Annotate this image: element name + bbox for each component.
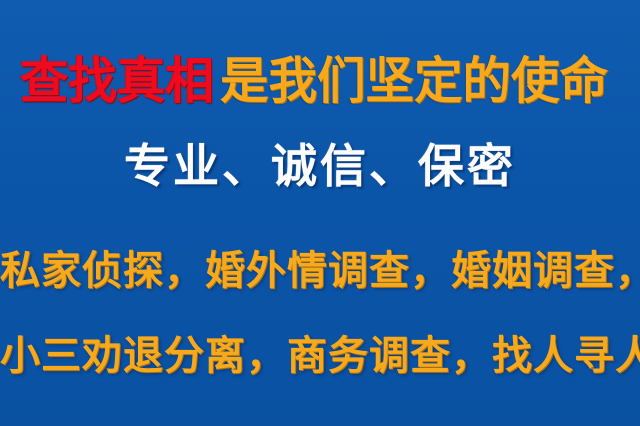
headline: 查找真相是我们坚定的使命 (0, 56, 640, 112)
services-line-1: 私家侦探，婚外情调查，婚姻调查， (0, 251, 640, 297)
headline-rest-text: 是我们坚定的使命 (220, 56, 608, 106)
advertisement-banner: 查找真相是我们坚定的使命 专业、诚信、保密 私家侦探，婚外情调查，婚姻调查， 小… (0, 0, 640, 426)
slogan-text: 专业、诚信、保密 (0, 143, 640, 195)
headline-highlight-text: 查找真相 (20, 56, 214, 106)
services-line-2: 小三劝退分离，商务调查，找人寻人 (0, 336, 640, 382)
